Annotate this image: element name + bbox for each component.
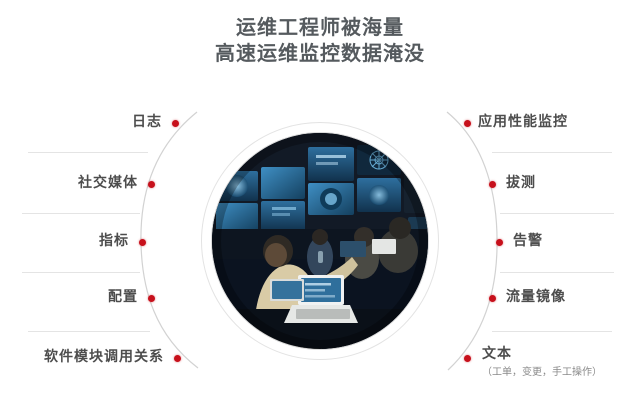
label-left-module-call-relations-text: 软件模块调用关系 [44, 349, 164, 365]
label-left-social-media-text: 社交媒体 [78, 175, 138, 191]
divider-right-3 [500, 272, 614, 273]
divider-left-2 [22, 213, 140, 214]
label-right-apm[interactable]: 应用性能监控 [478, 114, 568, 131]
dot-right-2 [489, 181, 496, 188]
label-right-text-subtitle: （工单，变更，手工操作） [482, 364, 602, 381]
label-left-configuration[interactable]: 配置 [0, 289, 138, 306]
infographic-root: 运维工程师被海量 高速运维监控数据淹没 [0, 0, 640, 409]
label-right-apm-text: 应用性能监控 [478, 114, 568, 130]
label-left-module-call-relations[interactable]: 软件模块调用关系 [0, 349, 164, 366]
label-left-logs-text: 日志 [132, 114, 162, 130]
dot-left-5 [174, 355, 181, 362]
dot-left-1 [172, 120, 179, 127]
label-left-configuration-text: 配置 [108, 289, 138, 305]
dot-right-1 [464, 120, 471, 127]
label-right-dial-test[interactable]: 拔测 [506, 175, 536, 192]
dot-right-3 [496, 239, 503, 246]
divider-right-2 [500, 213, 614, 214]
label-left-logs[interactable]: 日志 [0, 114, 162, 131]
label-right-text-title: 文本 [482, 346, 512, 362]
center-photo [212, 133, 428, 349]
divider-right-1 [492, 152, 612, 153]
label-right-alarm-text: 告警 [513, 233, 543, 249]
label-left-metrics[interactable]: 指标 [0, 233, 129, 250]
divider-left-1 [28, 152, 148, 153]
label-right-traffic-mirroring-text: 流量镜像 [506, 289, 566, 305]
label-right-dial-test-text: 拔测 [506, 175, 536, 191]
label-left-metrics-text: 指标 [99, 233, 129, 249]
dot-right-5 [464, 355, 471, 362]
dot-left-2 [148, 181, 155, 188]
label-right-alarm[interactable]: 告警 [513, 233, 543, 250]
label-left-social-media[interactable]: 社交媒体 [0, 175, 138, 192]
label-right-text[interactable]: 文本 （工单，变更，手工操作） [482, 346, 602, 381]
divider-right-4 [492, 331, 612, 332]
dot-right-4 [489, 295, 496, 302]
dot-left-3 [139, 239, 146, 246]
divider-left-4 [28, 331, 150, 332]
label-right-traffic-mirroring[interactable]: 流量镜像 [506, 289, 566, 306]
divider-left-3 [22, 272, 140, 273]
dot-left-4 [148, 295, 155, 302]
